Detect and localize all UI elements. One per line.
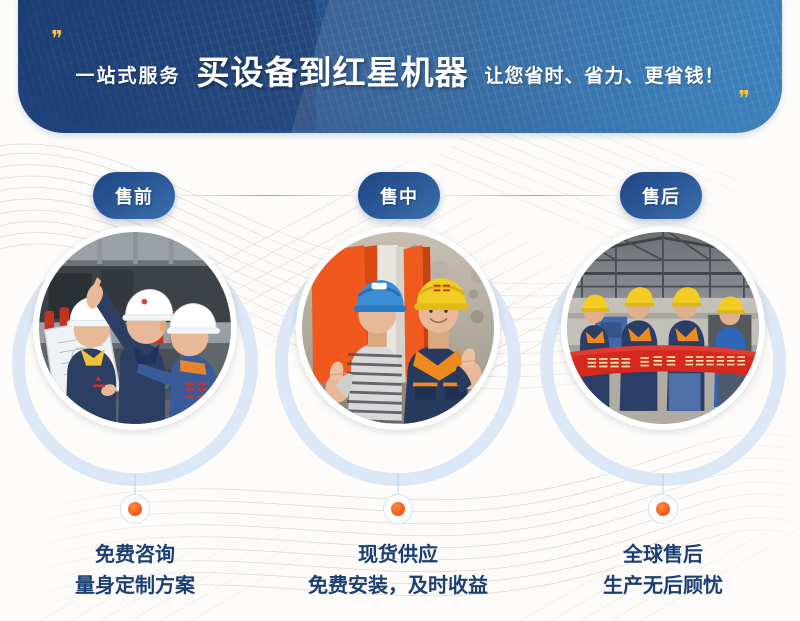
stage-pill-label: 售后 (642, 183, 680, 209)
stage-photo-after-sale: 四名工人在厂房内手持红色横幅：红星机器 心连心 售后服务中国行 (561, 226, 765, 430)
caption-line-1: 全球售后 (603, 540, 723, 571)
stage-dot-marker (383, 494, 413, 524)
caption-line-2: 免费安装，及时收益 (308, 571, 488, 602)
stage-pill-after-sale[interactable]: 售后 (620, 172, 702, 219)
stage-dot-marker (120, 494, 150, 524)
stage-photo-in-sale: 两名工人戴蓝色和黄色安全帽竖起大拇指 (296, 226, 500, 430)
orange-dot-icon (656, 502, 670, 516)
stage-caption-after-sale: 全球售后 生产无后顾忧 (603, 540, 723, 602)
caption-line-2: 量身定制方案 (75, 571, 195, 602)
banner-pre-text: 一站式服务 (75, 61, 180, 88)
stage-pill-label: 售前 (115, 183, 153, 209)
stage-pill-pre-sale[interactable]: 售前 (93, 172, 175, 219)
quote-close-icon: ❞ (738, 88, 749, 110)
stage-dot-marker (648, 494, 678, 524)
stage-photo-pre-sale: 两名戴白色安全帽的工程师在车间查看图纸并指向设备 (33, 226, 237, 430)
headline-banner: ❞ 一站式服务 买设备到红星机器 让您省时、省力、更省钱！ ❞ (18, 0, 782, 133)
stage-caption-in-sale: 现货供应 免费安装，及时收益 (308, 540, 488, 602)
banner-main-text: 买设备到红星机器 (197, 46, 469, 94)
stage-connector-2 (444, 195, 618, 196)
caption-line-2: 生产无后顾忧 (603, 571, 723, 602)
banner-post-text: 让您省时、省力、更省钱！ (485, 61, 725, 88)
stage-pill-label: 售中 (380, 183, 418, 209)
orange-dot-icon (391, 502, 405, 516)
service-promo-page: ❞ 一站式服务 买设备到红星机器 让您省时、省力、更省钱！ ❞ 售前 售中 售后… (0, 0, 800, 621)
caption-line-1: 免费咨询 (75, 540, 195, 571)
orange-dot-icon (128, 502, 142, 516)
stage-pill-in-sale[interactable]: 售中 (358, 172, 440, 219)
banner-headline: 一站式服务 买设备到红星机器 让您省时、省力、更省钱！ (18, 44, 782, 92)
stage-connector-1 (180, 195, 355, 196)
stage-caption-pre-sale: 免费咨询 量身定制方案 (75, 540, 195, 602)
caption-line-1: 现货供应 (308, 540, 488, 571)
